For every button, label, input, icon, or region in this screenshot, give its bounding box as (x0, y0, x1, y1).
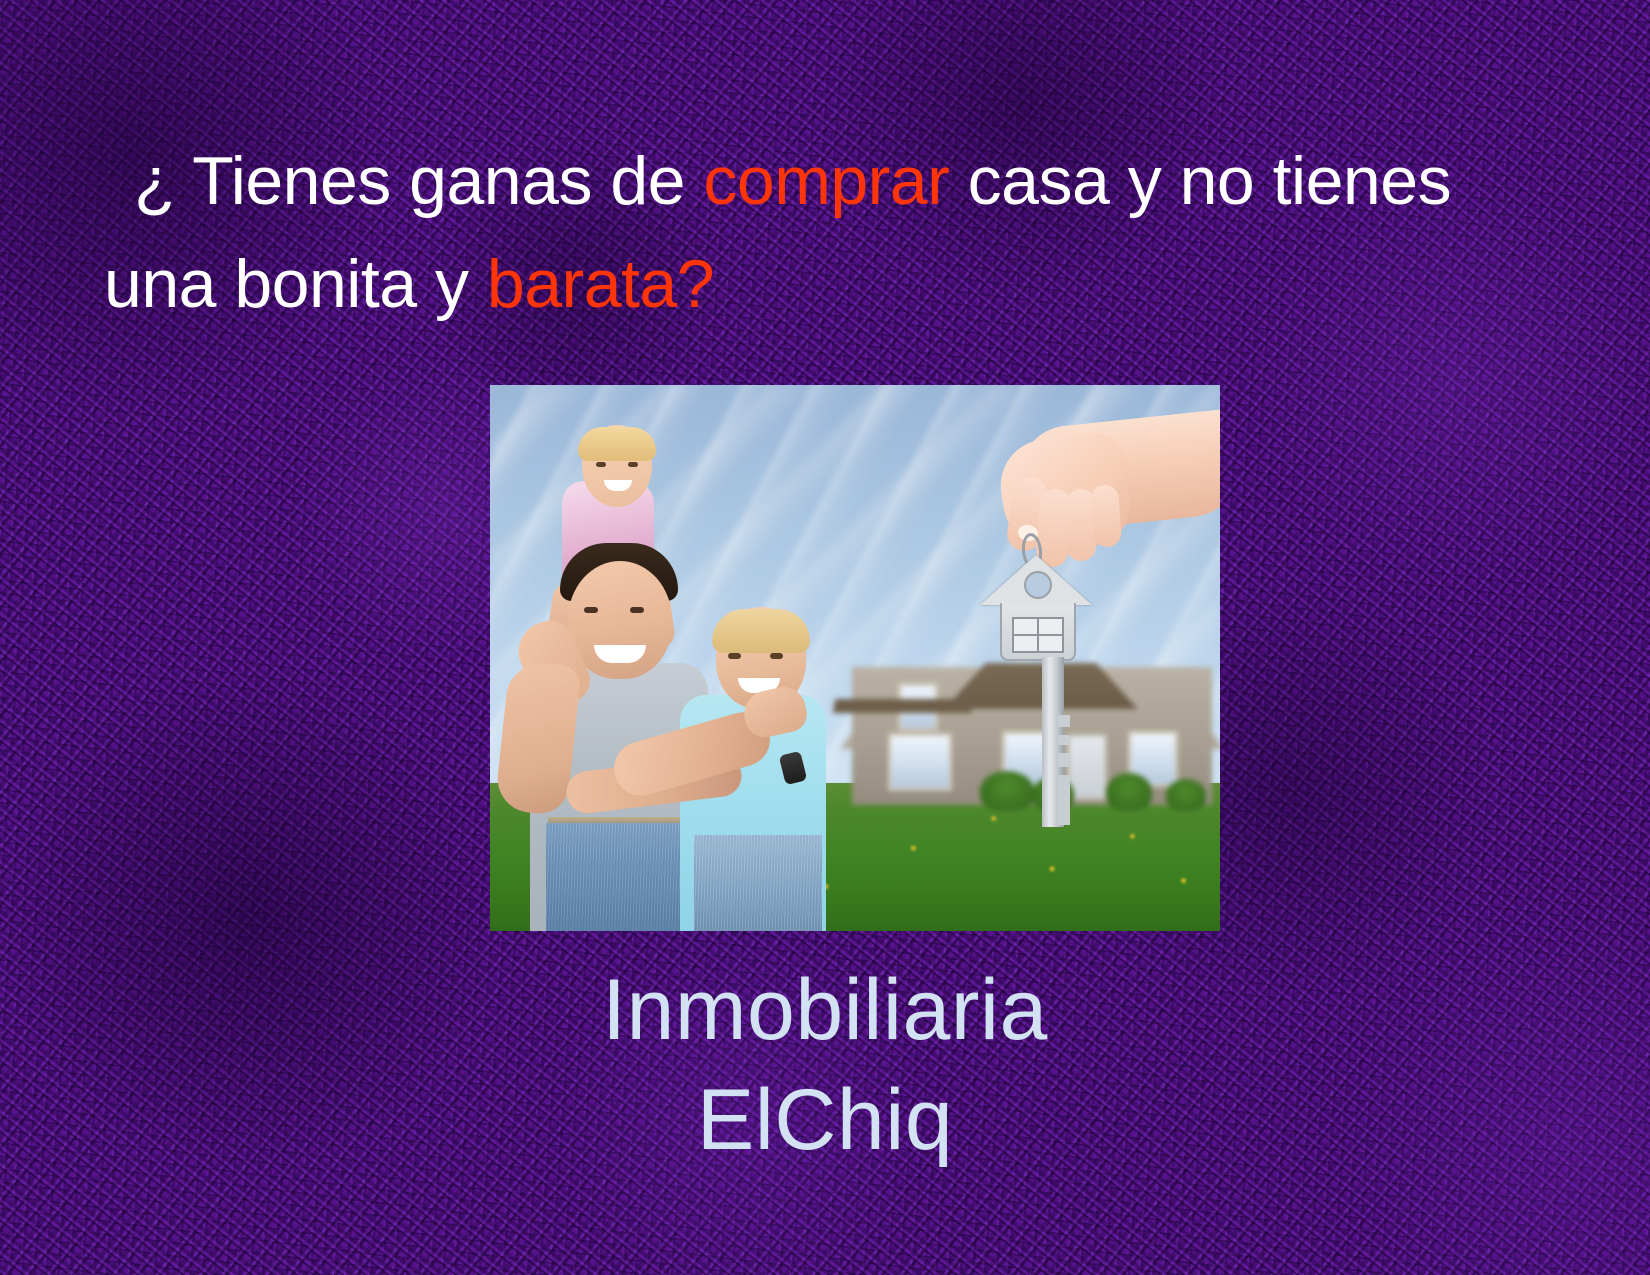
house-shaped-key-head (980, 555, 1092, 659)
finger-pinky (1090, 484, 1122, 548)
company-name: Inmobiliaria ElChiq (0, 955, 1650, 1175)
key-head-hole (1024, 571, 1052, 599)
company-name-line-2: ElChiq (0, 1065, 1650, 1175)
mother-eye-left (728, 653, 741, 659)
father-jeans (546, 823, 692, 931)
mother-bangs (712, 609, 810, 653)
headline-part-1: ¿ Tienes ganas de (134, 143, 703, 219)
daughter-eye-left (596, 462, 606, 467)
daughter-bangs (578, 427, 656, 461)
daughter-eye-right (628, 462, 638, 467)
hand-holding-key (920, 385, 1220, 805)
father-eye-left (584, 607, 598, 613)
headline-part-3: casa y no tienes (949, 143, 1469, 219)
mother-jeans (694, 835, 822, 931)
headline-part-4: una bonita y (104, 246, 487, 322)
presentation-slide: ¿ Tienes ganas de comprar casa y no tien… (0, 0, 1650, 1275)
key-teeth (1058, 715, 1070, 825)
company-name-line-1: Inmobiliaria (0, 955, 1650, 1065)
family-group (508, 431, 838, 931)
key-head-window (1012, 617, 1064, 653)
family-house-photo (490, 385, 1220, 931)
slide-headline: ¿ Tienes ganas de comprar casa y no tien… (104, 130, 1524, 337)
headline-highlight-comprar: comprar (703, 143, 949, 219)
photo-content (490, 385, 1220, 931)
father-eye-right (630, 607, 644, 613)
headline-highlight-barata: barata? (487, 246, 714, 322)
mother-eye-right (770, 653, 783, 659)
